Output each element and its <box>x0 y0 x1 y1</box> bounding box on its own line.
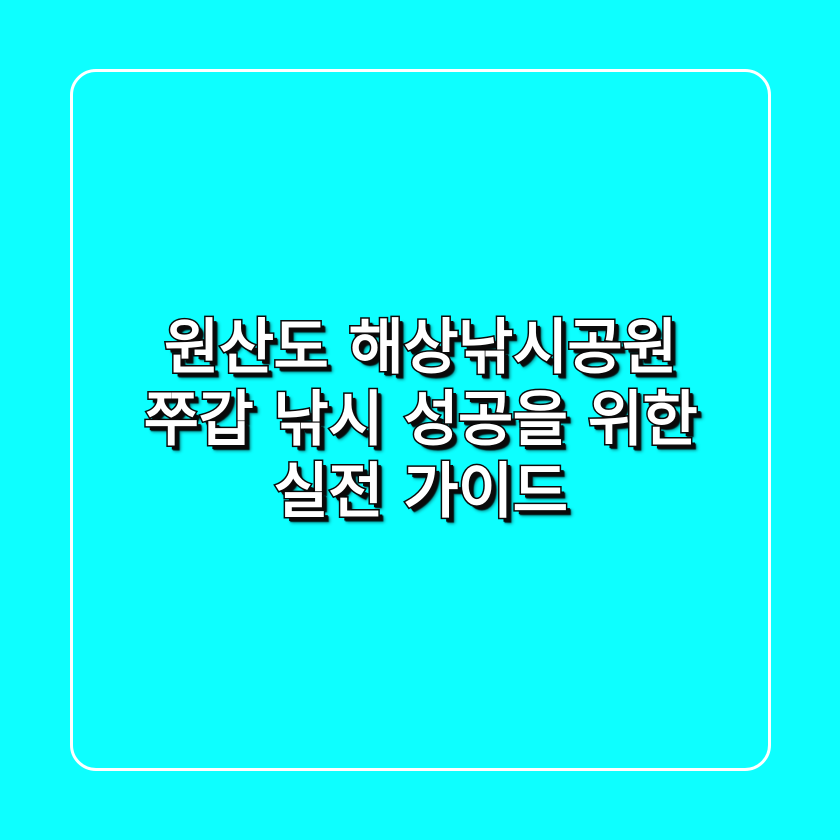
headline-block: 원산도 해상낚시공원 쭈갑 낚시 성공을 위한 실전 가이드 <box>70 69 771 771</box>
headline-line-3: 실전 가이드 <box>144 456 697 528</box>
headline-line-1: 원산도 해상낚시공원 <box>144 312 697 384</box>
page-title: 원산도 해상낚시공원 쭈갑 낚시 성공을 위한 실전 가이드 <box>144 312 697 528</box>
poster-canvas: 원산도 해상낚시공원 쭈갑 낚시 성공을 위한 실전 가이드 <box>0 0 840 840</box>
headline-line-2: 쭈갑 낚시 성공을 위한 <box>144 384 697 456</box>
